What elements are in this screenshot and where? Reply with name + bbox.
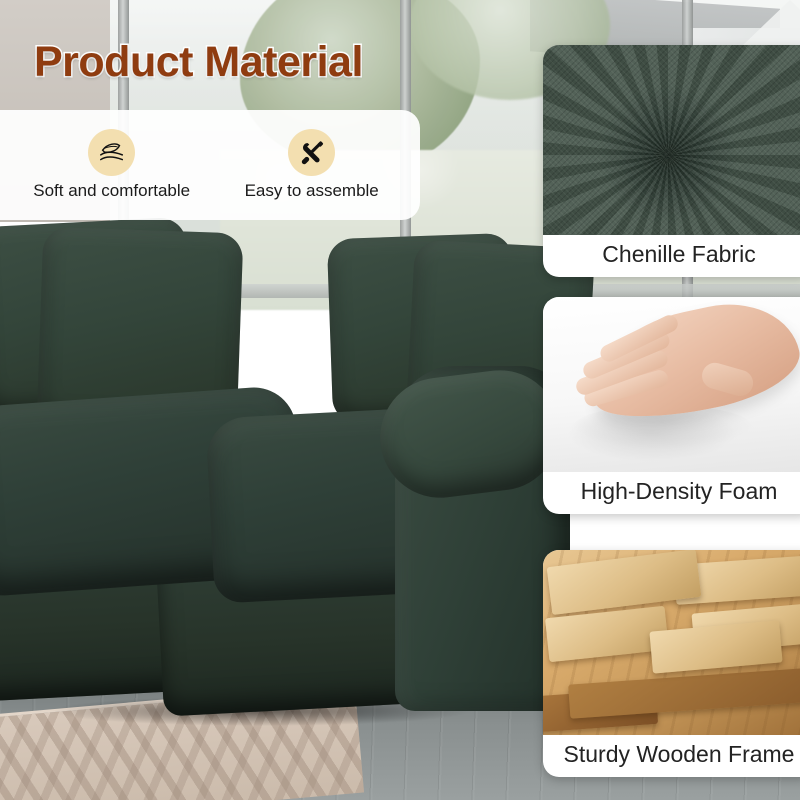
material-card-chenille-fabric: Chenille Fabric <box>543 45 800 277</box>
sofa <box>0 196 570 716</box>
lumber-beam <box>649 620 782 673</box>
feature-panel: Soft and comfortable Easy to assemble <box>0 110 420 220</box>
card-label: Chenille Fabric <box>543 235 800 277</box>
lumber-beam <box>547 550 702 615</box>
wrench-screwdriver-icon <box>288 129 335 176</box>
feature-label: Soft and comfortable <box>33 181 190 201</box>
chenille-fabric-image <box>543 45 800 235</box>
hand-pressing-foam <box>581 297 800 432</box>
product-material-banner: Product Material Soft and comfortable <box>0 0 800 800</box>
card-label: Sturdy Wooden Frame <box>543 735 800 777</box>
material-card-sturdy-wooden-frame: Sturdy Wooden Frame <box>543 550 800 777</box>
wooden-frame-image <box>543 550 800 735</box>
page-title: Product Material <box>34 38 363 87</box>
feature-label: Easy to assemble <box>245 181 379 201</box>
card-label: High-Density Foam <box>543 472 800 514</box>
high-density-foam-image <box>543 297 800 472</box>
feather-softness-icon <box>88 129 135 176</box>
lumber-beam <box>568 667 800 718</box>
feature-easy-to-assemble: Easy to assemble <box>245 129 379 201</box>
feature-soft-and-comfortable: Soft and comfortable <box>33 129 190 201</box>
thumb <box>699 360 756 399</box>
material-card-high-density-foam: High-Density Foam <box>543 297 800 514</box>
